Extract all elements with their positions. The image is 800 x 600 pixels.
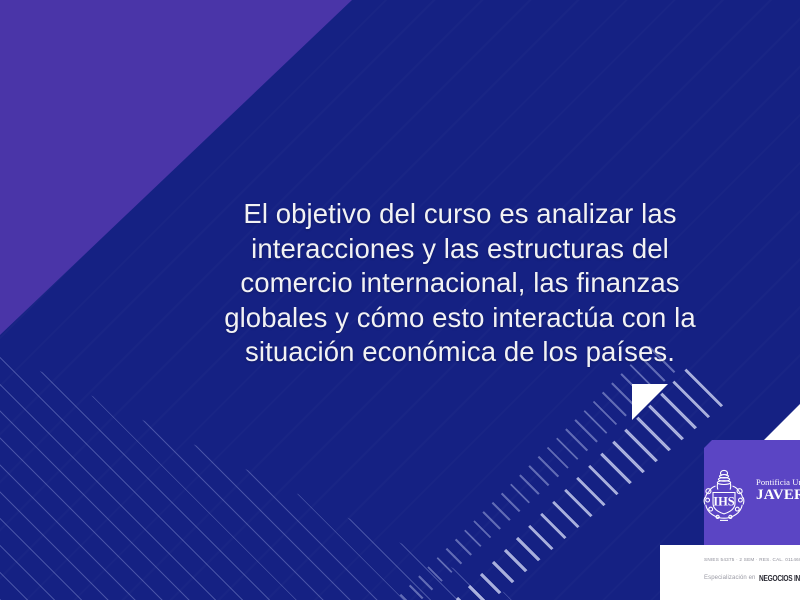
footer-registry-code: SNIES 54375 · 2 SEM · RES. CAL. 011460 (704, 557, 800, 562)
presentation-slide: El objetivo del curso es analizar las in… (0, 0, 800, 600)
footer-program-line: Especialización en NEGOCIOS INTERN (704, 572, 800, 584)
university-name-line2: JAVERI (756, 488, 800, 504)
footer-program-label: Especialización en (704, 575, 756, 581)
university-wordmark: Pontificia Uni JAVERI (756, 478, 800, 512)
javeriana-crest-icon: IHS (696, 467, 752, 525)
university-name-line1: Pontificia Uni (756, 478, 800, 487)
crest-monogram: IHS (713, 494, 735, 508)
slide-body-text: El objetivo del curso es analizar las in… (200, 197, 720, 370)
footer-program-name: NEGOCIOS INTERN (759, 574, 800, 583)
